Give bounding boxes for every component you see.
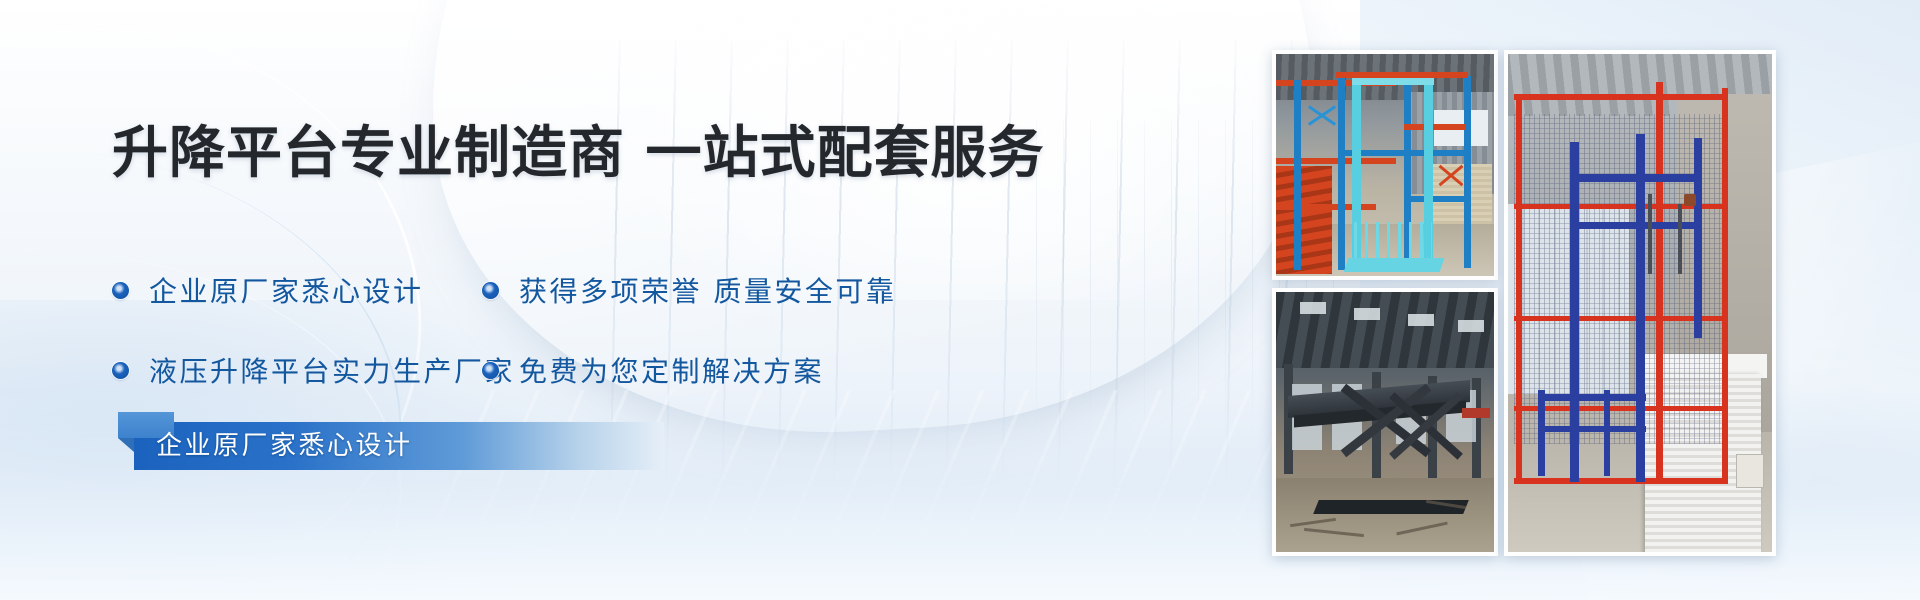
photo-scissor-lift [1272,288,1498,556]
photo-guide-rail-lift [1504,50,1776,556]
feature-label: 企业原厂家悉心设计 [149,270,424,310]
photo-warehouse-racking [1272,50,1498,280]
feature-item-1: 企业原厂家悉心设计 [112,270,482,310]
ribbon-label: 企业原厂家悉心设计 [156,422,413,470]
banner-content: 升降平台专业制造商 一站式配套服务 企业原厂家悉心设计 获得多项荣誉 质量安全可… [0,0,1250,600]
bullet-dot-icon [482,362,499,379]
feature-item-4: 免费为您定制解决方案 [482,350,824,390]
bullet-dot-icon [112,282,129,299]
bullet-dot-icon [482,282,499,299]
page-title: 升降平台专业制造商 一站式配套服务 [112,108,1045,189]
photo-collage [1272,50,1832,560]
feature-item-3: 液压升降平台实力生产厂家 [112,350,482,390]
feature-label: 获得多项荣誉 质量安全可靠 [519,270,896,310]
feature-row-1: 企业原厂家悉心设计 获得多项荣誉 质量安全可靠 [112,258,1062,322]
photo-guide-rail-lift-image [1508,54,1772,552]
feature-item-2: 获得多项荣誉 质量安全可靠 [482,270,896,310]
photo-warehouse-racking-image [1276,54,1494,276]
ribbon-fold-icon [118,438,134,452]
bullet-dot-icon [112,362,129,379]
highlight-ribbon: 企业原厂家悉心设计 [112,412,672,474]
promo-banner: 升降平台专业制造商 一站式配套服务 企业原厂家悉心设计 获得多项荣誉 质量安全可… [0,0,1920,600]
photo-scissor-lift-image [1276,292,1494,552]
feature-label: 液压升降平台实力生产厂家 [149,350,515,390]
feature-row-2: 液压升降平台实力生产厂家 免费为您定制解决方案 [112,338,1062,402]
feature-label: 免费为您定制解决方案 [519,350,824,390]
feature-list: 企业原厂家悉心设计 获得多项荣誉 质量安全可靠 液压升降平台实力生产厂家 免费为… [112,258,1062,402]
